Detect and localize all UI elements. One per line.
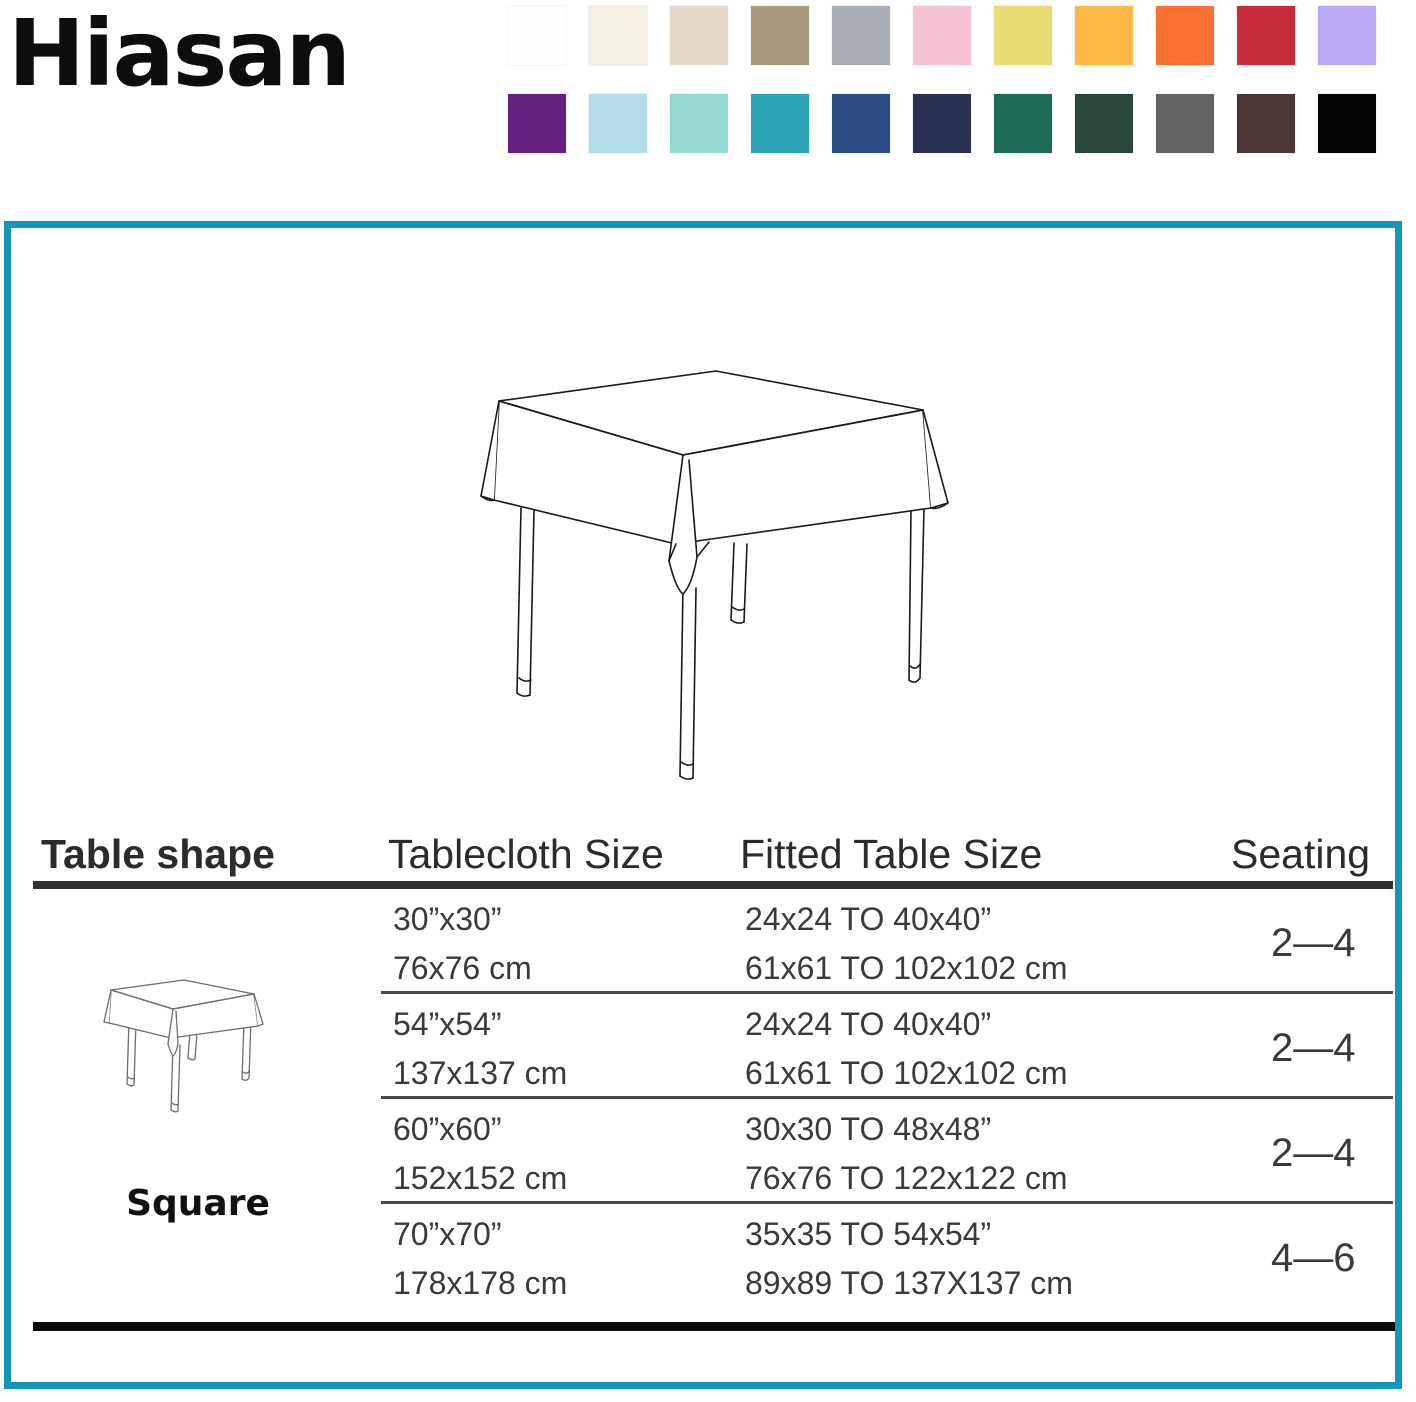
- cell-fitted-size-inch: 30x30 TO 48x48”: [745, 1113, 991, 1145]
- color-swatch-pink[interactable]: [913, 6, 971, 65]
- table-row: 70”x70” 178x178 cm 35x35 TO 54x54” 89x89…: [33, 1204, 1393, 1309]
- cell-seating: 2—4: [1271, 923, 1356, 963]
- table-row: 54”x54” 137x137 cm 24x24 TO 40x40” 61x61…: [33, 994, 1393, 1099]
- column-header-tablecloth-size: Tablecloth Size: [388, 834, 664, 875]
- cell-tablecloth-size-inch: 30”x30”: [393, 903, 502, 935]
- cell-tablecloth-size-cm: 137x137 cm: [393, 1057, 567, 1089]
- cell-seating: 2—4: [1271, 1133, 1356, 1173]
- cell-tablecloth-size-cm: 178x178 cm: [393, 1267, 567, 1299]
- cell-tablecloth-size-inch: 60”x60”: [393, 1113, 502, 1145]
- color-swatch-teal[interactable]: [751, 94, 809, 153]
- color-swatch-lavender[interactable]: [1318, 6, 1376, 65]
- color-swatch-purple[interactable]: [508, 94, 566, 153]
- color-swatch-ivory[interactable]: [589, 6, 647, 65]
- column-header-fitted-table-size: Fitted Table Size: [740, 834, 1042, 875]
- color-swatch-orange[interactable]: [1156, 6, 1214, 65]
- cell-seating: 2—4: [1271, 1028, 1356, 1068]
- color-swatch-dark-gray[interactable]: [1156, 94, 1214, 153]
- color-swatch-gray[interactable]: [832, 6, 890, 65]
- cell-tablecloth-size-inch: 70”x70”: [393, 1218, 502, 1250]
- cell-fitted-size-cm: 61x61 TO 102x102 cm: [745, 952, 1068, 984]
- size-table-body: Square 30”x30” 76x76 cm 24x24 TO 40x40” …: [33, 889, 1393, 1309]
- color-swatch-aqua[interactable]: [670, 94, 728, 153]
- cell-tablecloth-size-cm: 76x76 cm: [393, 952, 532, 984]
- cell-tablecloth-size-inch: 54”x54”: [393, 1008, 502, 1040]
- cell-fitted-size-inch: 35x35 TO 54x54”: [745, 1218, 991, 1250]
- column-header-seating: Seating: [1231, 834, 1370, 875]
- brand-logo: Hiasan: [8, 8, 349, 100]
- cell-fitted-size-cm: 76x76 TO 122x122 cm: [745, 1162, 1068, 1194]
- color-swatch-white[interactable]: [508, 6, 566, 65]
- header-divider: [33, 881, 1393, 889]
- color-swatch-black[interactable]: [1318, 94, 1376, 153]
- column-header-table-shape: Table shape: [41, 834, 275, 875]
- color-swatch-amber[interactable]: [1075, 6, 1133, 65]
- color-swatch-steel-blue[interactable]: [832, 94, 890, 153]
- color-swatch-row-warm: [508, 6, 1408, 65]
- color-swatch-taupe[interactable]: [751, 6, 809, 65]
- color-swatch-light-blue[interactable]: [589, 94, 647, 153]
- color-swatch-navy[interactable]: [913, 94, 971, 153]
- page-header: Hiasan: [0, 0, 1416, 200]
- cell-fitted-size-cm: 61x61 TO 102x102 cm: [745, 1057, 1068, 1089]
- size-guide-panel: Table shape Tablecloth Size Fitted Table…: [4, 221, 1402, 1389]
- cell-fitted-size-inch: 24x24 TO 40x40”: [745, 1008, 991, 1040]
- square-table-with-draped-tablecloth-illustration: [451, 348, 971, 798]
- table-row: 60”x60” 152x152 cm 30x30 TO 48x48” 76x76…: [33, 1099, 1393, 1204]
- color-swatch-forest[interactable]: [1075, 94, 1133, 153]
- color-swatch-crimson[interactable]: [1237, 6, 1295, 65]
- color-swatch-beige[interactable]: [670, 6, 728, 65]
- cell-tablecloth-size-cm: 152x152 cm: [393, 1162, 567, 1194]
- color-swatch-emerald[interactable]: [994, 94, 1052, 153]
- color-swatch-panel: [508, 6, 1408, 182]
- cell-seating: 4—6: [1271, 1238, 1356, 1278]
- cell-fitted-size-inch: 24x24 TO 40x40”: [745, 903, 991, 935]
- size-table: Table shape Tablecloth Size Fitted Table…: [33, 813, 1393, 1309]
- cell-fitted-size-cm: 89x89 TO 137X137 cm: [745, 1267, 1073, 1299]
- table-row: 30”x30” 76x76 cm 24x24 TO 40x40” 61x61 T…: [33, 889, 1393, 994]
- size-table-header-row: Table shape Tablecloth Size Fitted Table…: [33, 813, 1393, 875]
- color-swatch-dark-brown[interactable]: [1237, 94, 1295, 153]
- color-swatch-row-cool: [508, 94, 1408, 153]
- table-bottom-divider: [33, 1322, 1395, 1331]
- color-swatch-yellow[interactable]: [994, 6, 1052, 65]
